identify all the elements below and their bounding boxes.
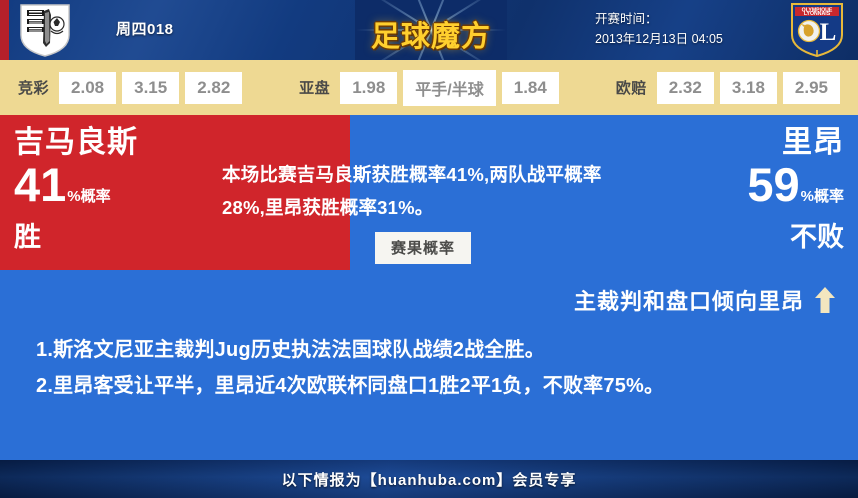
kickoff-info: 开赛时间： 2013年12月13日 04:05 <box>595 9 723 49</box>
olympique-lyonnais-crest: OLYMPIQUE LYONNAIS L <box>788 2 846 58</box>
odds-group-label: 亚盘 <box>299 77 330 98</box>
away-team-name: 里昂 <box>747 125 844 161</box>
probability-summary-text: 本场比赛吉马良斯获胜概率41%,两队战平概率28%,里昂获胜概率31%。 <box>222 158 622 224</box>
away-probability-block: 里昂 59%概率 不败 <box>747 125 844 253</box>
odds-cell-away[interactable]: 2.95 <box>783 72 840 104</box>
footer-text: 以下情报为【huanhuba.com】会员专享 <box>282 469 577 490</box>
odds-bar: 竞彩 2.08 3.15 2.82 亚盘 1.98 平手/半球 1.84 欧赔 … <box>0 60 858 115</box>
odds-group-jingcai: 竞彩 2.08 3.15 2.82 <box>18 72 242 104</box>
vitoria-guimaraes-crest <box>18 3 72 58</box>
intel-title-row: 主裁判和盘口倾向里昂 <box>22 282 836 318</box>
odds-group-asian-handicap: 亚盘 1.98 平手/半球 1.84 <box>299 70 559 106</box>
svg-text:LYONNAIS: LYONNAIS <box>804 11 831 17</box>
arrow-up-icon <box>814 286 836 314</box>
kickoff-value: 2013年12月13日 04:05 <box>595 29 723 49</box>
home-team-name: 吉马良斯 <box>14 125 138 161</box>
footer-bar: 以下情报为【huanhuba.com】会员专享 <box>0 460 858 498</box>
intel-title: 主裁判和盘口倾向里昂 <box>574 284 804 316</box>
odds-cell-draw[interactable]: 3.18 <box>720 72 777 104</box>
home-probability-value: 41 <box>14 158 66 211</box>
brand-logo: 足球魔方 <box>355 0 507 60</box>
probability-band: 吉马良斯 41%概率 胜 里昂 59%概率 不败 赛果概率 本场比赛吉马良斯获胜… <box>0 115 858 270</box>
kickoff-label: 开赛时间： <box>595 9 723 29</box>
intel-list-item: 1.斯洛文尼亚主裁判Jug历史执法法国球队战绩2战全胜。 <box>36 332 836 368</box>
svg-text:L: L <box>820 19 837 46</box>
odds-cell-home[interactable]: 1.98 <box>340 72 397 104</box>
intel-list-item: 2.里昂客受让平半，里昂近4次欧联杯同盘口1胜2平1负，不败率75%。 <box>36 368 836 404</box>
odds-cell-away[interactable]: 2.82 <box>185 72 242 104</box>
odds-cell-handicap[interactable]: 平手/半球 <box>403 70 495 106</box>
probability-section-badge: 赛果概率 <box>375 232 471 264</box>
intel-list: 1.斯洛文尼亚主裁判Jug历史执法法国球队战绩2战全胜。 2.里昂客受让平半，里… <box>22 332 836 404</box>
header-accent-bar <box>0 0 9 60</box>
match-preview-card: 周四018 足球魔方 开赛时间： 2013年12月13日 04:05 OLYMP… <box>0 0 858 498</box>
away-probability-value-row: 59%概率 <box>747 161 844 221</box>
match-label: 周四018 <box>116 18 174 39</box>
home-probability-unit: %概率 <box>67 188 110 205</box>
odds-cell-home[interactable]: 2.32 <box>657 72 714 104</box>
home-result-label: 胜 <box>14 221 138 253</box>
home-probability-value-row: 41%概率 <box>14 161 138 221</box>
home-probability-block: 吉马良斯 41%概率 胜 <box>14 125 138 253</box>
away-probability-value: 59 <box>747 158 799 211</box>
away-result-label: 不败 <box>747 221 844 253</box>
odds-group-european: 欧赔 2.32 3.18 2.95 <box>616 72 840 104</box>
away-probability-unit: %概率 <box>801 188 844 205</box>
odds-group-label: 欧赔 <box>616 77 647 98</box>
intel-section: 主裁判和盘口倾向里昂 1.斯洛文尼亚主裁判Jug历史执法法国球队战绩2战全胜。 … <box>0 270 858 460</box>
odds-cell-draw[interactable]: 3.15 <box>122 72 179 104</box>
header-bar: 周四018 足球魔方 开赛时间： 2013年12月13日 04:05 OLYMP… <box>0 0 858 60</box>
odds-cell-home[interactable]: 2.08 <box>59 72 116 104</box>
odds-group-label: 竞彩 <box>18 77 49 98</box>
odds-cell-away[interactable]: 1.84 <box>502 72 559 104</box>
brand-title: 足球魔方 <box>355 13 507 55</box>
